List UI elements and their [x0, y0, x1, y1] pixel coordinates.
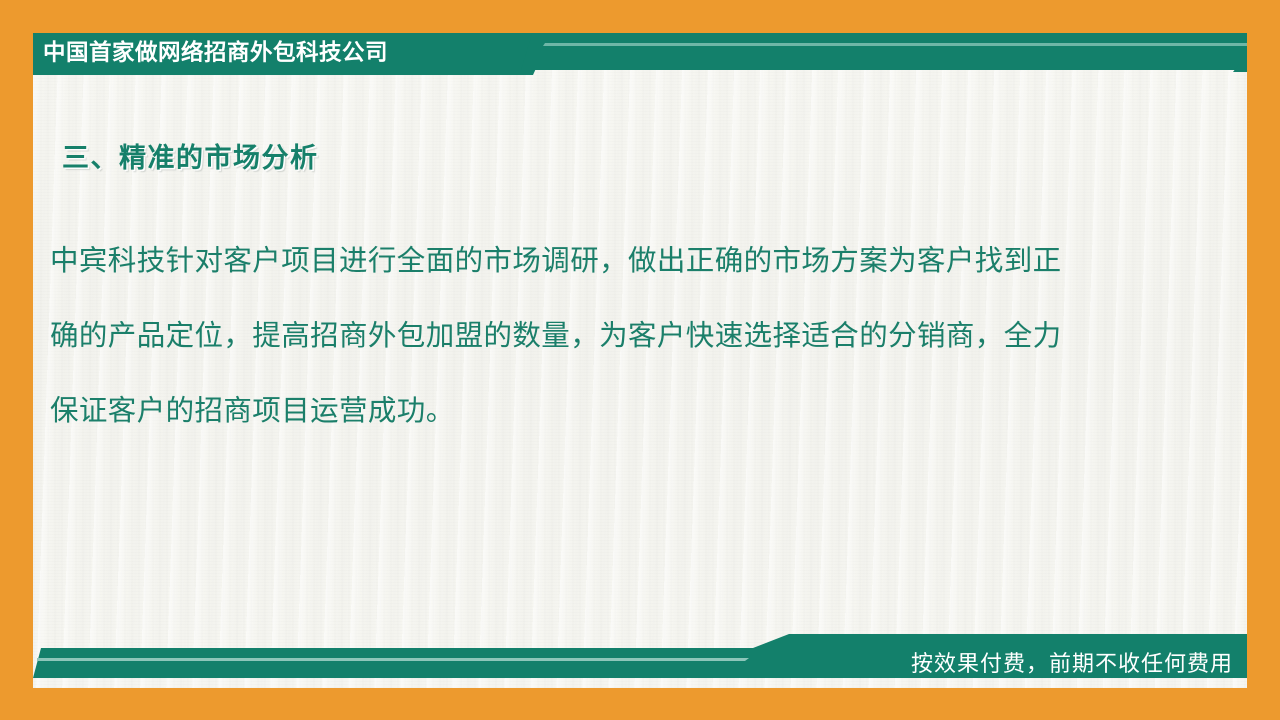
footer-hairline — [37, 658, 749, 661]
header-right-strip — [521, 31, 1247, 70]
footer-banner: 按效果付费，前期不收任何费用 — [33, 628, 1247, 688]
header-title: 中国首家做网络招商外包科技公司 — [43, 38, 388, 68]
header-hairline — [543, 43, 1247, 46]
footer-tagline: 按效果付费，前期不收任何费用 — [911, 649, 1233, 679]
body-line-1: 中宾科技针对客户项目进行全面的市场调研，做出正确的市场方案为客户找到正 — [50, 224, 1190, 299]
body-paragraph: 中宾科技针对客户项目进行全面的市场调研，做出正确的市场方案为客户找到正 确的产品… — [50, 224, 1190, 449]
frame-left-border — [0, 0, 33, 720]
frame-right-border — [1247, 0, 1280, 720]
body-line-3: 保证客户的招商项目运营成功。 — [50, 374, 1190, 449]
frame-top-border — [0, 0, 1280, 33]
header-banner: 中国首家做网络招商外包科技公司 — [33, 31, 1247, 83]
section-title: 三、精准的市场分析 — [62, 136, 319, 175]
slide-canvas: 中国首家做网络招商外包科技公司 三、精准的市场分析 中宾科技针对客户项目进行全面… — [0, 0, 1280, 720]
frame-bottom-border — [0, 688, 1280, 720]
body-line-2: 确的产品定位，提高招商外包加盟的数量，为客户快速选择适合的分销商，全力 — [50, 299, 1190, 374]
